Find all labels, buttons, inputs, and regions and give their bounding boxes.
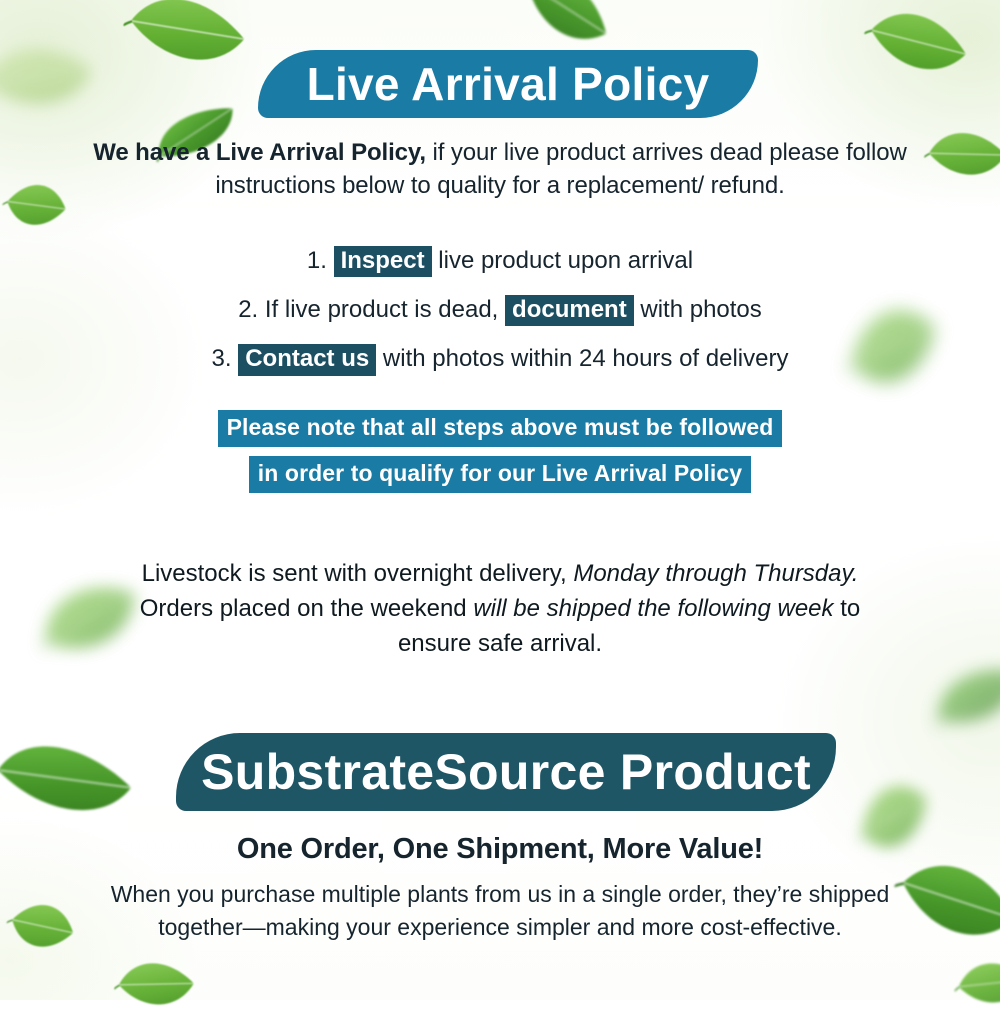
policy-intro-bold: We have a Live Arrival Policy, [93, 139, 426, 166]
policy-note-block: Please note that all steps above must be… [120, 410, 880, 502]
step-2-highlight: document [505, 295, 634, 326]
policy-step-3: 3. Contact us with photos within 24 hour… [120, 344, 880, 375]
product-body-line-1: When you purchase multiple plants from u… [111, 881, 890, 907]
step-3-number: 3. [212, 345, 232, 372]
flyer-page: Live Arrival Policy We have a Live Arriv… [0, 0, 1000, 1000]
product-body-paragraph: When you purchase multiple plants from u… [100, 878, 900, 943]
shipping-part-2: Orders placed on the weekend [140, 595, 467, 622]
policy-step-2: 2. If live product is dead, document wit… [120, 295, 880, 326]
step-1-number: 1. [307, 247, 327, 274]
product-body-line-2: together—making your experience simpler … [158, 914, 842, 940]
step-2-pre: If live product is dead, [265, 296, 498, 323]
shipping-italic-1: Monday through Thursday. [573, 560, 858, 587]
live-arrival-policy-title: Live Arrival Policy [307, 57, 710, 111]
product-subheading: One Order, One Shipment, More Value! [120, 833, 880, 866]
step-3-post: with photos within 24 hours of delivery [383, 345, 789, 372]
policy-note-line-2: in order to qualify for our Live Arrival… [249, 456, 751, 493]
shipping-schedule-paragraph: Livestock is sent with overnight deliver… [120, 557, 880, 661]
policy-note-line-2-wrap: in order to qualify for our Live Arrival… [120, 456, 880, 493]
shipping-italic-2: will be shipped the following week [473, 595, 833, 622]
step-1-highlight: Inspect [334, 246, 432, 277]
shipping-part-1: Livestock is sent with overnight deliver… [142, 560, 567, 587]
step-2-post: with photos [640, 296, 761, 323]
substratesource-product-banner: SubstrateSource Product [176, 733, 836, 811]
policy-intro-paragraph: We have a Live Arrival Policy, if your l… [90, 136, 910, 202]
step-1-post: live product upon arrival [438, 247, 693, 274]
policy-steps-list: 1. Inspect live product upon arrival 2. … [120, 246, 880, 394]
live-arrival-policy-banner: Live Arrival Policy [258, 50, 758, 118]
policy-step-1: 1. Inspect live product upon arrival [120, 246, 880, 277]
policy-note-line-1: Please note that all steps above must be… [218, 410, 783, 447]
step-3-highlight: Contact us [238, 344, 376, 375]
policy-note-line-1-wrap: Please note that all steps above must be… [120, 410, 880, 447]
substratesource-product-title: SubstrateSource Product [201, 743, 811, 801]
step-2-number: 2. [238, 296, 258, 323]
